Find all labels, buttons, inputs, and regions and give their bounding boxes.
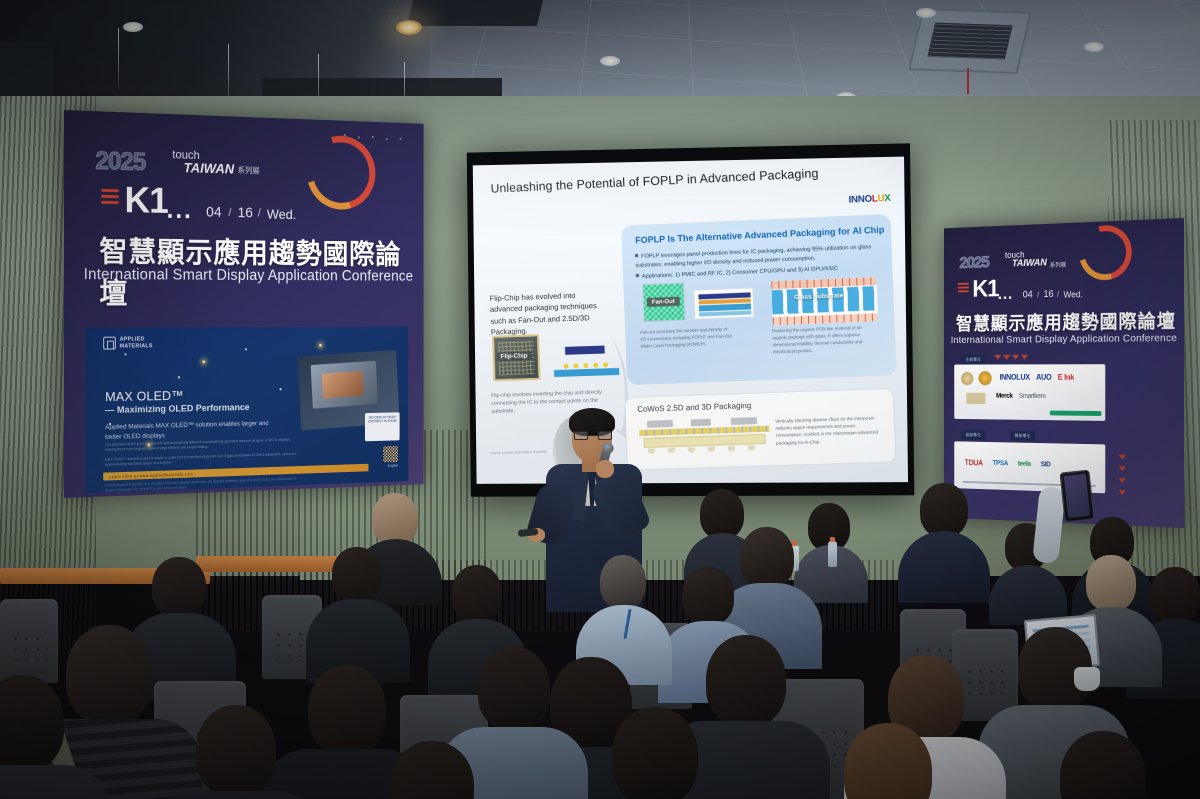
glass-substrate-diagram bbox=[771, 277, 878, 325]
sponsor-board-primary: INNOLUX AUO E Ink Merck Smartkem bbox=[954, 364, 1105, 421]
poster-qr-code bbox=[383, 446, 398, 462]
flip-chip-label: Flip-Chip bbox=[496, 351, 531, 361]
sponsor-tag-second: 協辦單位 bbox=[961, 430, 985, 440]
applied-materials-mark-icon bbox=[103, 337, 116, 350]
banner-brand-suffix: 系列展 bbox=[238, 165, 260, 176]
smartphone bbox=[1059, 470, 1094, 523]
slide-left-body: Flip-Chip has evolved into advanced pack… bbox=[489, 289, 607, 338]
banner-date-day-right: 04 bbox=[1023, 290, 1033, 301]
poster-qr-label: English bbox=[388, 464, 398, 468]
fan-out-cross-section bbox=[693, 287, 754, 319]
banner-year: 2025 bbox=[95, 147, 145, 177]
fan-out-label: Fan-Out bbox=[647, 297, 680, 307]
banner-date-sep-right: / bbox=[1037, 290, 1039, 299]
poster-award-badge: SID DISPLAY WEEK 2025 BEST IN SHOW bbox=[365, 412, 400, 441]
sponsor-logo-auo: AUO bbox=[1036, 373, 1051, 382]
applied-materials-logo: APPLIED MATERIALS bbox=[103, 336, 152, 349]
audience bbox=[0, 469, 1200, 799]
ceiling-light bbox=[1084, 42, 1104, 52]
ceiling-panel bbox=[407, 0, 543, 26]
sponsor-seal-icon bbox=[961, 372, 973, 385]
audience-raised-arm bbox=[1032, 486, 1066, 564]
fan-out-caption: Fan-out increases the number and density… bbox=[640, 325, 733, 350]
banner-brand-suffix-right: 系列展 bbox=[1050, 260, 1066, 269]
sponsor-logo-merck: Merck bbox=[996, 393, 1013, 400]
banner-menu-icon-right bbox=[958, 283, 969, 293]
slide-title: Unleashing the Potential of FOPLP in Adv… bbox=[490, 166, 819, 196]
banner-title-zh-right: 智慧顯示應用趨勢國際論壇 bbox=[956, 306, 1176, 335]
poster-para-2: MAX OLED™ solution makes it easier to sc… bbox=[105, 452, 297, 469]
poster-subhead: — Maximizing OLED Performance bbox=[105, 402, 249, 416]
banner-ring-graphic-right bbox=[1070, 218, 1142, 290]
presenter-glasses bbox=[574, 431, 612, 440]
banner-weekday: Wed. bbox=[267, 206, 296, 222]
sponsor-logo-innolux: INNOLUX bbox=[1000, 373, 1030, 382]
banner-brand-taiwan-right: TAIWAN bbox=[1012, 258, 1047, 270]
glass-substrate-caption: Replacing the organic PCB-like material … bbox=[772, 324, 872, 356]
conference-banner-left: 2025 touch TAIWAN 系列展 K1 ... 04 / 16 / W… bbox=[64, 110, 424, 498]
sponsor-logo-tdua: TDUA bbox=[965, 458, 983, 467]
ceiling-light bbox=[123, 22, 143, 32]
sponsor-tag-third: 贊助單位 bbox=[1010, 431, 1035, 441]
hanging-rod bbox=[118, 28, 119, 90]
sponsor-logo-sid: SID bbox=[1041, 461, 1051, 468]
banner-session-code-right: K1 bbox=[972, 275, 998, 303]
banner-brand-taiwan: TAIWAN bbox=[184, 160, 234, 177]
banner-title-en-right: International Smart Display Application … bbox=[951, 332, 1177, 346]
sponsor-logo-eink: E Ink bbox=[1058, 373, 1074, 382]
banner-date-month-right: 16 bbox=[1043, 289, 1053, 300]
water-bottle bbox=[828, 541, 837, 567]
banner-date-sep2-right: / bbox=[1057, 290, 1059, 299]
banner-date-sep: / bbox=[228, 205, 231, 219]
ceiling-light-lit bbox=[396, 20, 422, 35]
banner-title-en: International Smart Display Application … bbox=[84, 266, 414, 285]
banner-date-sep-2: / bbox=[258, 206, 261, 220]
cowos-diagram bbox=[639, 417, 770, 459]
projection-screen: Unleashing the Potential of FOPLP in Adv… bbox=[467, 143, 915, 496]
sponsor-logo-small bbox=[966, 393, 985, 404]
sponsor-logo-smartkem: Smartkem bbox=[1019, 393, 1046, 400]
banner-year-right: 2025 bbox=[959, 253, 988, 273]
banner-dots-right: ... bbox=[998, 284, 1013, 303]
banner-date-month: 16 bbox=[238, 205, 253, 222]
banner-dots: ... bbox=[167, 194, 193, 225]
am-logo-line2: MATERIALS bbox=[120, 343, 153, 350]
sponsor-logo-tpsa: TPSA bbox=[993, 460, 1008, 467]
ceiling-light bbox=[600, 56, 620, 66]
poster-headline: MAX OLED™ bbox=[105, 388, 183, 404]
ceiling-light bbox=[916, 8, 936, 18]
sponsor-tag-main: 主辦單位 bbox=[961, 355, 985, 365]
vent-stem bbox=[967, 68, 969, 94]
innolux-logo: INNOLUX bbox=[848, 193, 890, 206]
chair bbox=[0, 599, 58, 683]
sponsor-logo-teela: teela bbox=[1018, 461, 1031, 468]
banner-menu-icon bbox=[101, 189, 118, 204]
conference-room-scene: 2025 touch TAIWAN 系列展 K1 ... 04 / 16 / W… bbox=[0, 0, 1200, 799]
sponsor-seal-icon-2 bbox=[979, 371, 992, 385]
cowos-caption: Vertically stacking diverse chips on the… bbox=[775, 414, 881, 446]
banner-weekday-right: Wed. bbox=[1064, 289, 1083, 299]
banner-session-code: K1 bbox=[125, 180, 168, 222]
banner-date-day: 04 bbox=[206, 204, 222, 221]
